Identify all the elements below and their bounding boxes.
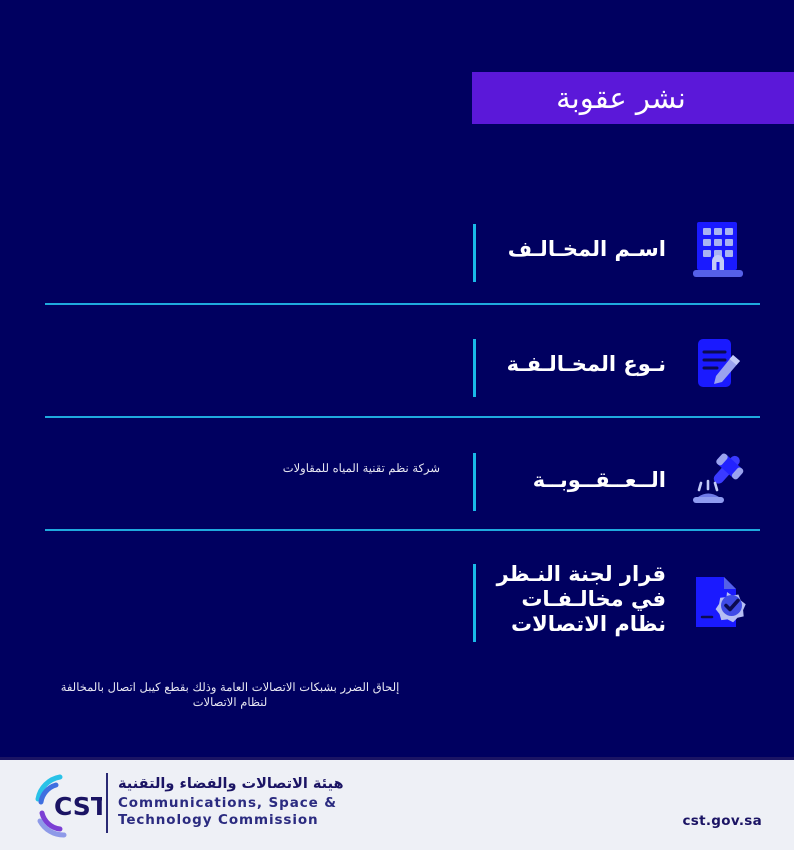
organization-name-ar: هيئة الاتصالات والفضاء والتقنية	[118, 775, 344, 793]
row-separator-bar	[473, 564, 476, 642]
cst-logo-text: CST	[54, 792, 102, 821]
certificate-check-icon	[687, 572, 749, 634]
row-violator-name: اسـم المخـالـف شركة نظم تقنية المياه للم…	[0, 218, 794, 288]
divider	[45, 529, 760, 531]
row-penalty: الــعــقــوبــة 1- غرامة مالية قدرها ( 2…	[0, 447, 794, 517]
violation-type-line-1: إلحاق الضرر بشبكات الاتصالات العامة وذلك…	[20, 680, 440, 695]
penalty-publication-poster: نشر عقوبة	[0, 0, 794, 850]
gavel-icon	[687, 447, 749, 509]
row-violation-type: نـوع المخـالـفـة إلحاق الضرر بشبكات الات…	[0, 333, 794, 403]
row-committee-decision: قرار لجنة النـظر في مخالـفـات نظام الاتص…	[0, 562, 794, 652]
row-label-violation-type: نـوع المخـالـفـة	[486, 352, 666, 377]
divider	[45, 416, 760, 418]
website-url[interactable]: cst.gov.sa	[682, 813, 762, 829]
footer-top-rule	[0, 757, 794, 760]
decision-label-line-1: قرار لجنة النـظر	[486, 562, 666, 587]
title-banner: نشر عقوبة	[472, 72, 794, 124]
document-pen-icon	[687, 333, 749, 395]
organization-name-en-line-1: Communications, Space &	[118, 795, 344, 812]
row-separator-bar	[473, 224, 476, 282]
row-separator-bar	[473, 453, 476, 511]
footer: CST هيئة الاتصالات والفضاء والتقنية Comm…	[0, 757, 794, 850]
footer-organization: هيئة الاتصالات والفضاء والتقنية Communic…	[118, 775, 344, 829]
footer-logo-divider	[106, 773, 108, 833]
cst-logo: CST	[30, 769, 102, 839]
page-title: نشر عقوبة	[556, 81, 710, 115]
decision-label-line-2: في مخالـفـات	[486, 587, 666, 612]
row-label-committee-decision: قرار لجنة النـظر في مخالـفـات نظام الاتص…	[486, 562, 666, 637]
row-label-penalty: الــعــقــوبــة	[486, 468, 666, 493]
row-separator-bar	[473, 339, 476, 397]
row-value-violation-type: إلحاق الضرر بشبكات الاتصالات العامة وذلك…	[20, 680, 440, 710]
violation-type-line-2: لنظام الاتصالات	[20, 695, 440, 710]
organization-name-en-line-2: Technology Commission	[118, 812, 344, 829]
row-label-violator-name: اسـم المخـالـف	[486, 237, 666, 262]
divider	[45, 303, 760, 305]
building-icon	[687, 218, 749, 280]
decision-label-line-3: نظام الاتصالات	[486, 612, 666, 637]
